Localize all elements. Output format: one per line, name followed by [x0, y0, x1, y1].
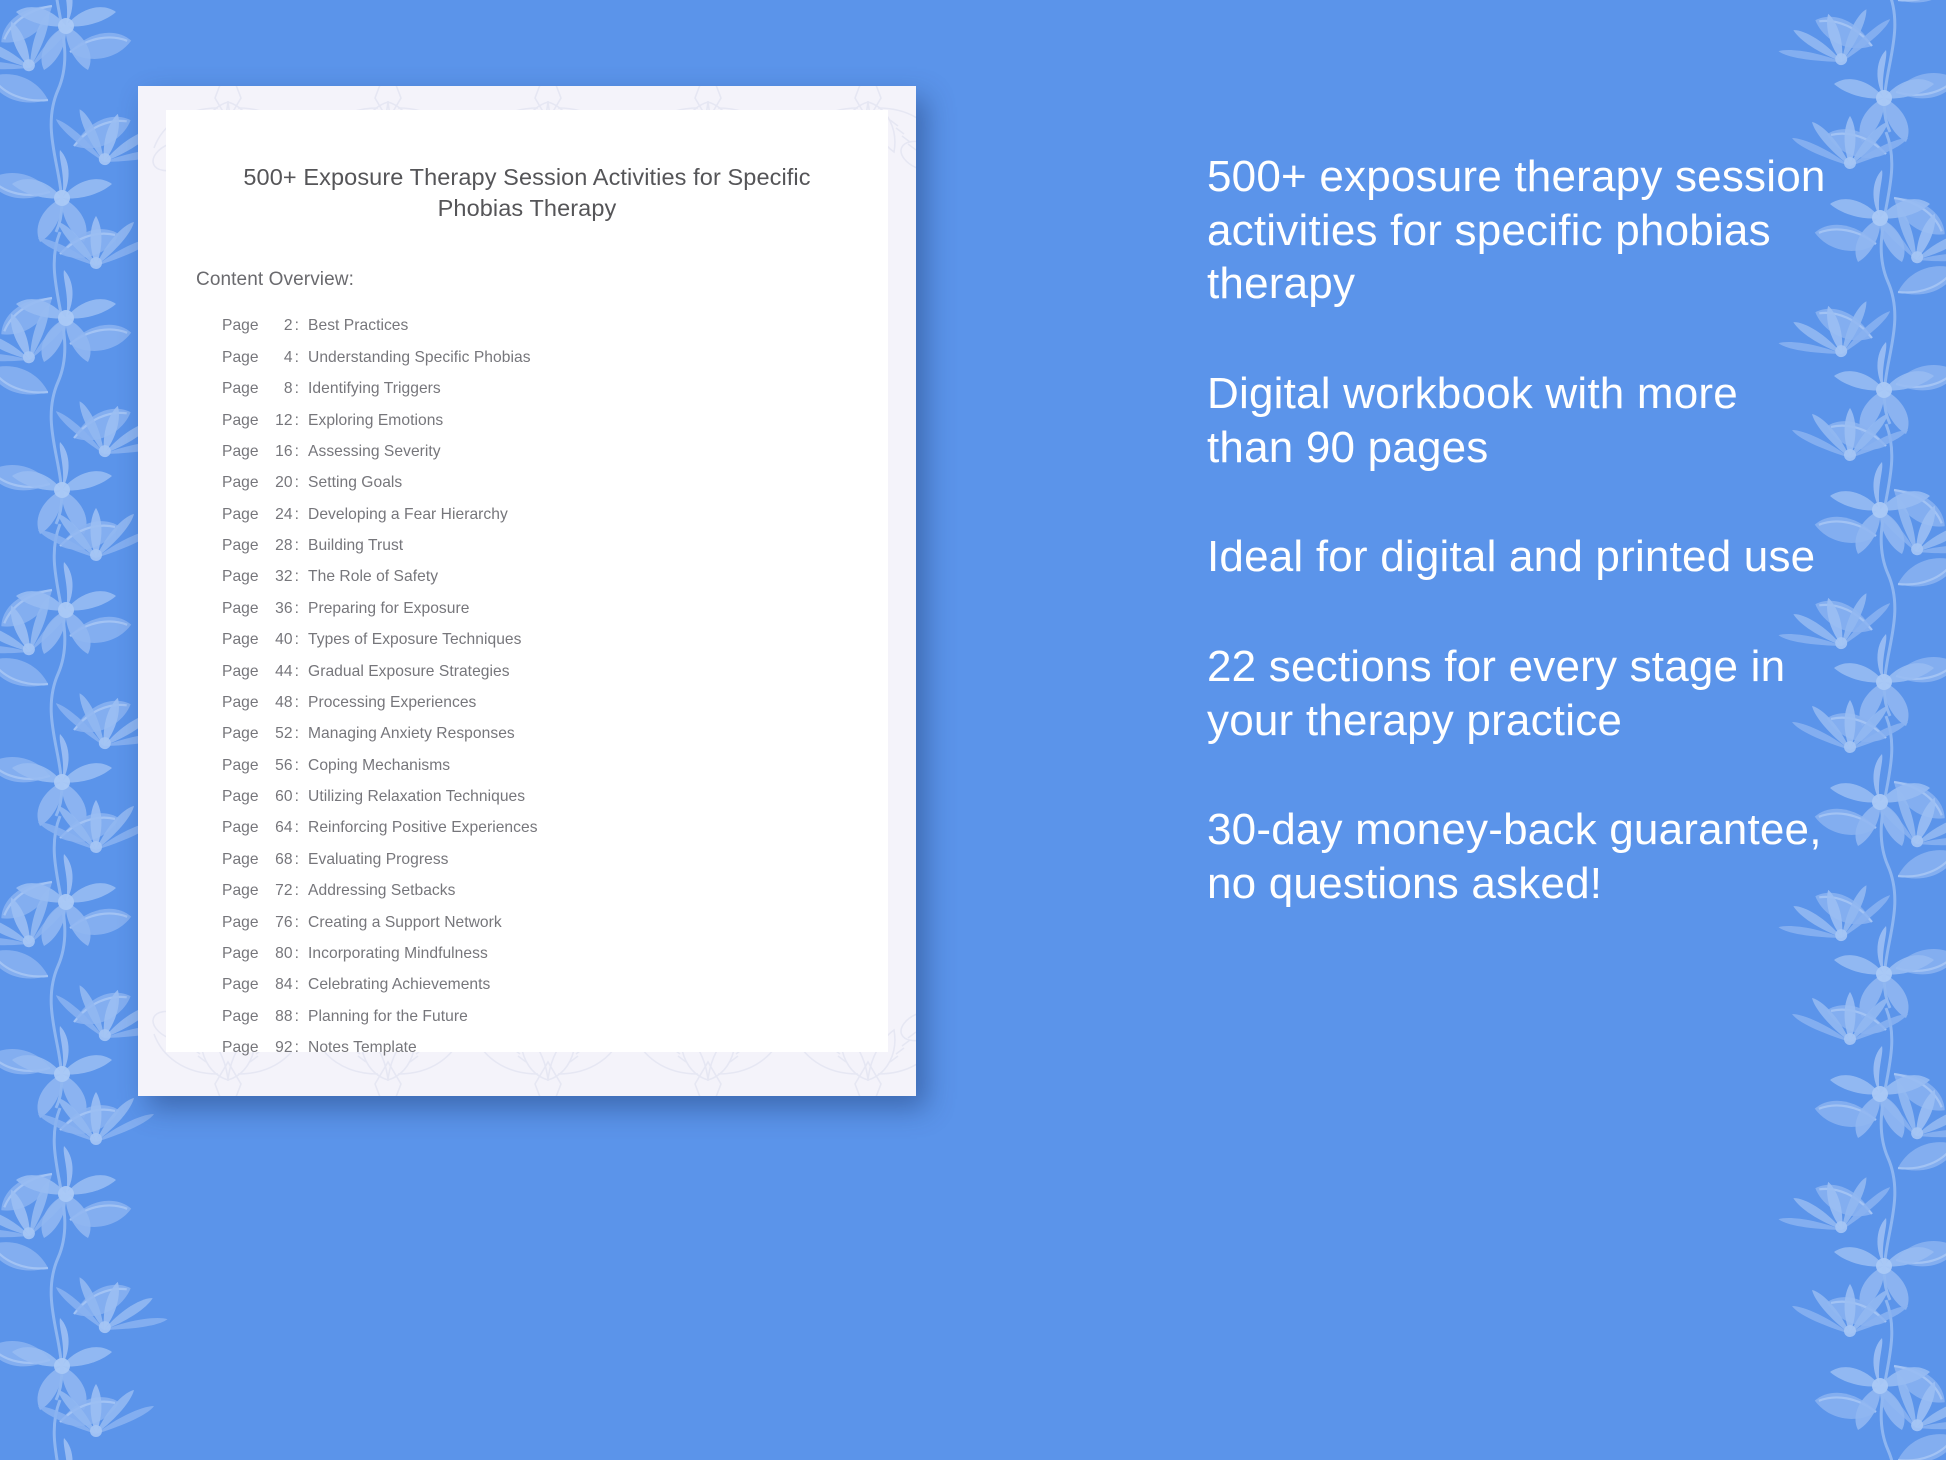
toc-colon: : — [295, 883, 308, 899]
toc-section-title: Notes Template — [308, 1040, 417, 1056]
toc-page-number: 80 — [259, 946, 295, 962]
table-of-contents-row: Page80:Incorporating Mindfulness — [222, 938, 888, 969]
toc-page-word: Page — [222, 820, 259, 836]
toc-colon: : — [295, 789, 308, 805]
marketing-copy-item: 22 sections for every stage in your ther… — [1207, 640, 1827, 747]
toc-section-title: Types of Exposure Techniques — [308, 632, 522, 648]
table-of-contents-row: Page52:Managing Anxiety Responses — [222, 718, 888, 749]
toc-page-word: Page — [222, 475, 259, 491]
toc-page-word: Page — [222, 915, 259, 931]
toc-page-number: 20 — [259, 475, 295, 491]
toc-colon: : — [295, 695, 308, 711]
toc-section-title: Addressing Setbacks — [308, 883, 455, 899]
toc-page-number: 24 — [259, 507, 295, 523]
table-of-contents: Page2:Best PracticesPage4:Understanding … — [166, 291, 888, 1064]
toc-page-number: 88 — [259, 1009, 295, 1025]
toc-section-title: Utilizing Relaxation Techniques — [308, 789, 525, 805]
toc-colon: : — [295, 977, 308, 993]
toc-page-number: 12 — [259, 413, 295, 429]
toc-page-number: 56 — [259, 758, 295, 774]
toc-section-title: Assessing Severity — [308, 444, 441, 460]
toc-colon: : — [295, 632, 308, 648]
toc-page-word: Page — [222, 632, 259, 648]
marketing-copy-item: 500+ exposure therapy session activities… — [1207, 150, 1827, 311]
toc-colon: : — [295, 444, 308, 460]
toc-section-title: Understanding Specific Phobias — [308, 350, 531, 366]
table-of-contents-row: Page60:Utilizing Relaxation Techniques — [222, 781, 888, 812]
table-of-contents-row: Page44:Gradual Exposure Strategies — [222, 656, 888, 687]
toc-section-title: Exploring Emotions — [308, 413, 443, 429]
toc-page-number: 84 — [259, 977, 295, 993]
table-of-contents-row: Page28:Building Trust — [222, 530, 888, 561]
toc-section-title: Building Trust — [308, 538, 403, 554]
table-of-contents-row: Page48:Processing Experiences — [222, 687, 888, 718]
toc-page-number: 44 — [259, 664, 295, 680]
toc-colon: : — [295, 726, 308, 742]
toc-page-word: Page — [222, 350, 259, 366]
marketing-copy-item: Ideal for digital and printed use — [1207, 530, 1827, 584]
toc-page-word: Page — [222, 507, 259, 523]
table-of-contents-row: Page16:Assessing Severity — [222, 436, 888, 467]
toc-page-number: 32 — [259, 569, 295, 585]
toc-section-title: Setting Goals — [308, 475, 402, 491]
toc-page-word: Page — [222, 413, 259, 429]
toc-section-title: Evaluating Progress — [308, 852, 449, 868]
toc-page-word: Page — [222, 852, 259, 868]
toc-page-number: 40 — [259, 632, 295, 648]
toc-section-title: Celebrating Achievements — [308, 977, 490, 993]
toc-colon: : — [295, 318, 308, 334]
toc-page-number: 16 — [259, 444, 295, 460]
table-of-contents-row: Page4:Understanding Specific Phobias — [222, 342, 888, 373]
toc-page-number: 92 — [259, 1040, 295, 1056]
toc-page-number: 28 — [259, 538, 295, 554]
toc-page-word: Page — [222, 1040, 259, 1056]
toc-section-title: Coping Mechanisms — [308, 758, 450, 774]
table-of-contents-row: Page12:Exploring Emotions — [222, 405, 888, 436]
toc-page-word: Page — [222, 977, 259, 993]
toc-page-word: Page — [222, 538, 259, 554]
toc-colon: : — [295, 381, 308, 397]
toc-section-title: Developing a Fear Hierarchy — [308, 507, 508, 523]
toc-colon: : — [295, 569, 308, 585]
toc-page-number: 52 — [259, 726, 295, 742]
toc-page-word: Page — [222, 444, 259, 460]
table-of-contents-row: Page92:Notes Template — [222, 1032, 888, 1063]
table-of-contents-row: Page24:Developing a Fear Hierarchy — [222, 499, 888, 530]
toc-colon: : — [295, 413, 308, 429]
toc-section-title: Managing Anxiety Responses — [308, 726, 515, 742]
toc-colon: : — [295, 350, 308, 366]
table-of-contents-row: Page68:Evaluating Progress — [222, 844, 888, 875]
toc-section-title: Incorporating Mindfulness — [308, 946, 488, 962]
toc-section-title: Processing Experiences — [308, 695, 476, 711]
toc-page-number: 8 — [259, 381, 295, 397]
page-title: 500+ Exposure Therapy Session Activities… — [166, 110, 888, 225]
table-of-contents-row: Page40:Types of Exposure Techniques — [222, 624, 888, 655]
toc-colon: : — [295, 1009, 308, 1025]
toc-page-number: 64 — [259, 820, 295, 836]
toc-page-word: Page — [222, 789, 259, 805]
table-of-contents-row: Page32:The Role of Safety — [222, 562, 888, 593]
toc-colon: : — [295, 852, 308, 868]
toc-section-title: Best Practices — [308, 318, 408, 334]
toc-colon: : — [295, 758, 308, 774]
toc-section-title: The Role of Safety — [308, 569, 438, 585]
toc-page-word: Page — [222, 569, 259, 585]
toc-colon: : — [295, 601, 308, 617]
toc-page-number: 4 — [259, 350, 295, 366]
document-page: 500+ Exposure Therapy Session Activities… — [166, 110, 888, 1052]
table-of-contents-row: Page36:Preparing for Exposure — [222, 593, 888, 624]
table-of-contents-row: Page2:Best Practices — [222, 311, 888, 342]
table-of-contents-row: Page88:Planning for the Future — [222, 1001, 888, 1032]
toc-page-number: 2 — [259, 318, 295, 334]
table-of-contents-row: Page56:Coping Mechanisms — [222, 750, 888, 781]
toc-page-word: Page — [222, 726, 259, 742]
toc-page-word: Page — [222, 664, 259, 680]
document-preview-card[interactable]: 500+ Exposure Therapy Session Activities… — [138, 86, 916, 1096]
table-of-contents-row: Page72:Addressing Setbacks — [222, 875, 888, 906]
toc-page-number: 76 — [259, 915, 295, 931]
toc-page-number: 60 — [259, 789, 295, 805]
toc-section-title: Planning for the Future — [308, 1009, 468, 1025]
marketing-copy-list: 500+ exposure therapy session activities… — [1207, 150, 1827, 911]
toc-page-word: Page — [222, 318, 259, 334]
table-of-contents-row: Page8:Identifying Triggers — [222, 373, 888, 404]
toc-page-number: 48 — [259, 695, 295, 711]
table-of-contents-row: Page20:Setting Goals — [222, 467, 888, 498]
toc-page-word: Page — [222, 1009, 259, 1025]
toc-section-title: Preparing for Exposure — [308, 601, 469, 617]
toc-page-word: Page — [222, 883, 259, 899]
toc-page-word: Page — [222, 381, 259, 397]
toc-page-word: Page — [222, 758, 259, 774]
marketing-copy-item: 30-day money-back guarantee, no question… — [1207, 803, 1827, 910]
toc-colon: : — [295, 538, 308, 554]
toc-section-title: Creating a Support Network — [308, 915, 502, 931]
toc-colon: : — [295, 946, 308, 962]
toc-page-number: 68 — [259, 852, 295, 868]
toc-page-word: Page — [222, 946, 259, 962]
table-of-contents-row: Page84:Celebrating Achievements — [222, 969, 888, 1000]
toc-section-title: Identifying Triggers — [308, 381, 441, 397]
toc-section-title: Reinforcing Positive Experiences — [308, 820, 538, 836]
toc-colon: : — [295, 915, 308, 931]
marketing-copy-item: Digital workbook with more than 90 pages — [1207, 367, 1827, 474]
toc-page-word: Page — [222, 695, 259, 711]
toc-colon: : — [295, 1040, 308, 1056]
table-of-contents-row: Page76:Creating a Support Network — [222, 907, 888, 938]
toc-colon: : — [295, 475, 308, 491]
toc-page-number: 36 — [259, 601, 295, 617]
toc-page-word: Page — [222, 601, 259, 617]
toc-colon: : — [295, 507, 308, 523]
toc-page-number: 72 — [259, 883, 295, 899]
toc-colon: : — [295, 820, 308, 836]
toc-section-title: Gradual Exposure Strategies — [308, 664, 510, 680]
toc-colon: : — [295, 664, 308, 680]
content-overview-label: Content Overview: — [166, 225, 888, 291]
table-of-contents-row: Page64:Reinforcing Positive Experiences — [222, 813, 888, 844]
